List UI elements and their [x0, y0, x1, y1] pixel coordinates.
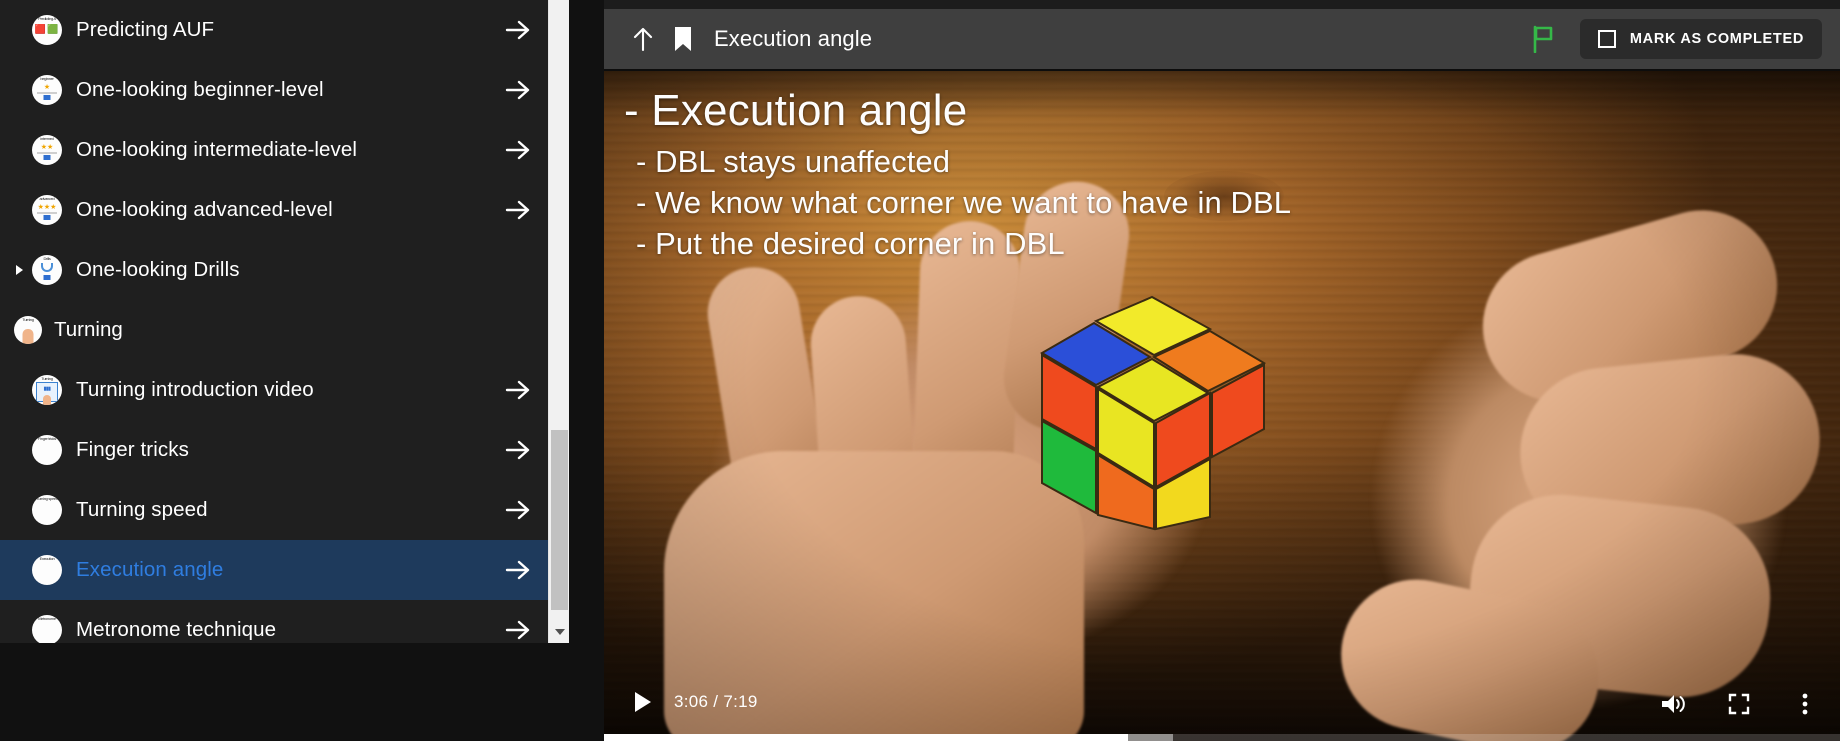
- slide-overlay-text: - Execution angle - DBL stays unaffected…: [624, 89, 1291, 265]
- lesson-thumbnail-one-star-icon: beginner ★: [32, 75, 62, 105]
- sidebar-item-label: Execution angle: [76, 558, 488, 582]
- sidebar-item-label: Predicting AUF: [76, 18, 488, 42]
- play-icon[interactable]: [626, 685, 660, 719]
- sidebar-item-execution-angle[interactable]: Execution Execution angle: [0, 540, 548, 600]
- lesson-content-panel: Execution angle MARK AS COMPLETED: [604, 0, 1840, 741]
- scrollbar-thumb[interactable]: [551, 430, 568, 610]
- lesson-thumbnail-finger-tricks-icon: Finger tricks: [32, 435, 62, 465]
- lesson-thumbnail-trophy-icon: Drills: [32, 255, 62, 285]
- slide-title: - Execution angle: [624, 89, 1291, 133]
- lesson-thumbnail-turning-speed-icon: Turning speed: [32, 495, 62, 525]
- page-title: Execution angle: [714, 26, 1526, 52]
- video-time-display: 3:06 / 7:19: [674, 692, 758, 712]
- arrow-right-icon[interactable]: [488, 120, 548, 180]
- volume-icon[interactable]: [1658, 689, 1688, 719]
- sidebar-item-label: Finger tricks: [76, 438, 488, 462]
- lesson-thumbnail-video-icon: Turning ▮▮▮: [32, 375, 62, 405]
- sidebar-item-turning-speed[interactable]: Turning speed Turning speed: [0, 480, 548, 540]
- sidebar-item-label: One-looking intermediate-level: [76, 138, 488, 162]
- mark-as-completed-label: MARK AS COMPLETED: [1630, 31, 1804, 47]
- sidebar-footer-area: [0, 643, 569, 741]
- arrow-right-icon[interactable]: [488, 540, 548, 600]
- arrow-right-icon[interactable]: [488, 60, 548, 120]
- sidebar-item-one-looking-beginner-level[interactable]: beginner ★ One-looking beginner-level: [0, 60, 548, 120]
- lesson-thumbnail-metronome-icon: Metronome: [32, 615, 62, 643]
- lesson-thumbnail-execution-angle-icon: Execution: [32, 555, 62, 585]
- chevron-down-icon[interactable]: [549, 623, 570, 641]
- slide-bullet: - DBL stays unaffected: [636, 143, 1291, 181]
- sidebar-item-label: One-looking Drills: [76, 258, 548, 282]
- arrow-up-icon[interactable]: [628, 24, 658, 54]
- sidebar-item-label: Turning speed: [76, 498, 488, 522]
- course-lesson-page: Predicting A 🟥🟩 Predicting AUF beginner …: [0, 0, 1840, 741]
- flag-icon[interactable]: [1526, 22, 1560, 56]
- more-vertical-icon[interactable]: [1790, 689, 1820, 719]
- sidebar-item-one-looking-advanced-level[interactable]: advanced ★★★ One-looking advanced-level: [0, 180, 548, 240]
- arrow-right-icon[interactable]: [488, 180, 548, 240]
- section-thumbnail-turning-icon: Turning: [14, 316, 42, 344]
- sidebar-item-label: Metronome technique: [76, 618, 488, 642]
- sidebar-item-label: One-looking beginner-level: [76, 78, 488, 102]
- sidebar-item-one-looking-intermediate-level[interactable]: intermed ★★ One-looking intermediate-lev…: [0, 120, 548, 180]
- slide-bullet: - Put the desired corner in DBL: [636, 225, 1291, 263]
- sidebar-item-one-looking-drills[interactable]: Drills One-looking Drills: [0, 240, 548, 300]
- sidebar-section-label: Turning: [54, 318, 123, 342]
- video-progress-bar[interactable]: [604, 734, 1840, 741]
- arrow-right-icon[interactable]: [488, 480, 548, 540]
- course-outline-sidebar: Predicting A 🟥🟩 Predicting AUF beginner …: [0, 0, 548, 643]
- panel-divider: [569, 0, 604, 741]
- video-controls-left: 3:06 / 7:19: [626, 685, 758, 719]
- slide-bullets: - DBL stays unaffected - We know what co…: [636, 143, 1291, 262]
- sidebar-item-finger-tricks[interactable]: Finger tricks Finger tricks: [0, 420, 548, 480]
- lesson-thumbnail-two-stars-icon: intermed ★★: [32, 135, 62, 165]
- sidebar-item-predicting-auf[interactable]: Predicting A 🟥🟩 Predicting AUF: [0, 0, 548, 60]
- video-controls: 3:06 / 7:19: [604, 666, 1840, 741]
- checkbox-unchecked-icon[interactable]: [1598, 30, 1616, 48]
- sidebar-item-metronome-technique[interactable]: Metronome Metronome technique: [0, 600, 548, 643]
- sidebar-scrollbar[interactable]: [548, 0, 569, 643]
- video-player[interactable]: - Execution angle - DBL stays unaffected…: [604, 71, 1840, 741]
- arrow-right-icon[interactable]: [488, 360, 548, 420]
- video-controls-right: [1658, 689, 1820, 719]
- lesson-header-bar: Execution angle MARK AS COMPLETED: [604, 9, 1840, 69]
- panel-top-strip: [604, 0, 1840, 9]
- sidebar-section-turning[interactable]: Turning Turning: [0, 300, 548, 360]
- sidebar-list: Predicting A 🟥🟩 Predicting AUF beginner …: [0, 0, 548, 643]
- lesson-thumbnail-cubes-icon: Predicting A 🟥🟩: [32, 15, 62, 45]
- fullscreen-icon[interactable]: [1724, 689, 1754, 719]
- lesson-thumbnail-three-stars-icon: advanced ★★★: [32, 195, 62, 225]
- arrow-right-icon[interactable]: [488, 420, 548, 480]
- sidebar-item-label: One-looking advanced-level: [76, 198, 488, 222]
- arrow-right-icon[interactable]: [488, 600, 548, 643]
- bookmark-icon: [670, 24, 696, 54]
- mark-as-completed-button[interactable]: MARK AS COMPLETED: [1580, 19, 1822, 59]
- sidebar-item-label: Turning introduction video: [76, 378, 488, 402]
- triangle-right-icon[interactable]: [12, 263, 26, 277]
- progress-played: [604, 734, 1128, 741]
- arrow-right-icon[interactable]: [488, 0, 548, 60]
- slide-bullet: - We know what corner we want to have in…: [636, 184, 1291, 222]
- sidebar-item-turning-introduction-video[interactable]: Turning ▮▮▮ Turning introduction video: [0, 360, 548, 420]
